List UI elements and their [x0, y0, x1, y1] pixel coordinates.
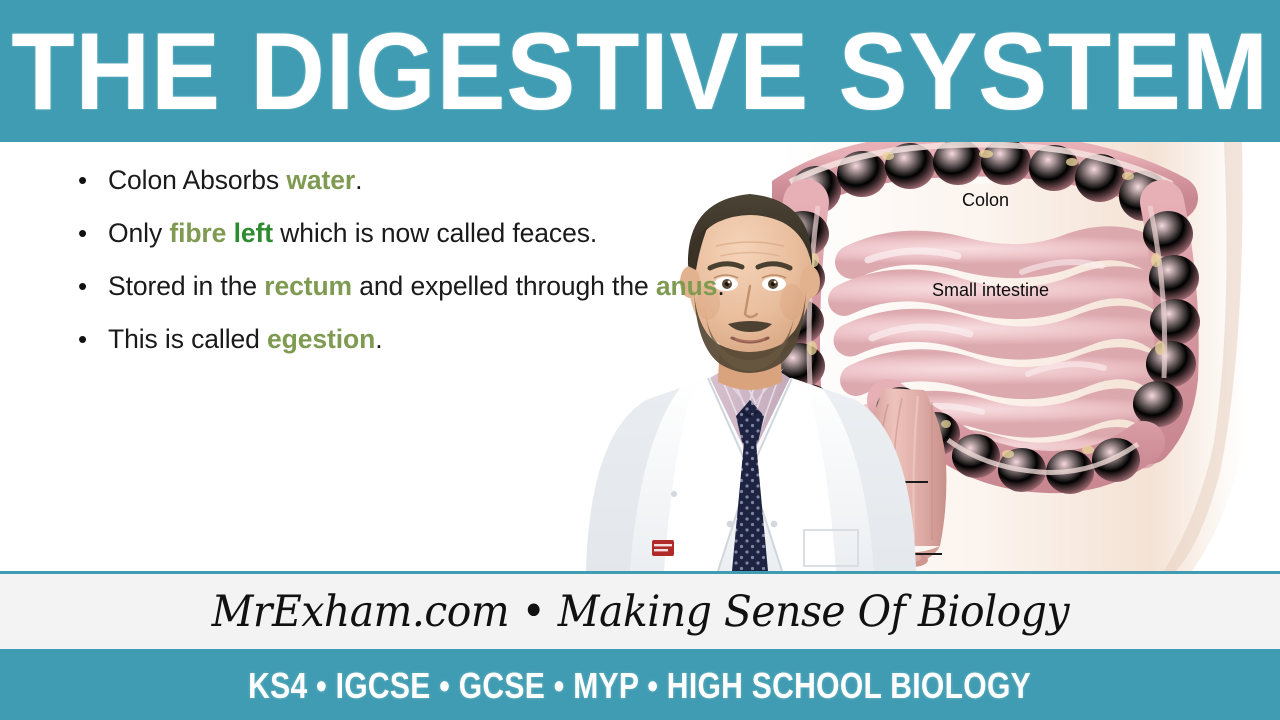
bullet-highlight-fibre: fibre: [169, 218, 226, 248]
bullet-segment: Stored in the: [108, 271, 264, 301]
qualification-banner-text: KS4 • IGCSE • GCSE • MYP • HIGH SCHOOL B…: [249, 665, 1032, 707]
bullet-segment: which is now called feaces.: [273, 218, 597, 248]
bullet-segment: [226, 218, 233, 248]
bullet-marker-icon: •: [62, 266, 108, 306]
bullet-segment: Colon Absorbs: [108, 165, 286, 195]
title-bar: THE DIGESTIVE SYSTEM: [0, 0, 1280, 142]
bullet-segment: and expelled through the: [352, 271, 656, 301]
bullet-segment: .: [355, 165, 362, 195]
bullet-item-2: • Only fibre left which is now called fe…: [62, 213, 762, 254]
bullet-highlight-anus: anus: [656, 271, 717, 301]
bullet-highlight-rectum: rectum: [264, 271, 352, 301]
slide-body: Colon Small intestine Rectum Anus: [0, 142, 1280, 571]
bullet-item-1: • Colon Absorbs water.: [62, 160, 762, 201]
diagram-label-small-intestine: Small intestine: [932, 280, 1049, 301]
bullet-item-4: • This is called egestion.: [62, 319, 762, 360]
bullet-segment: Only: [108, 218, 169, 248]
bullet-highlight-egestion: egestion: [267, 324, 375, 354]
tagline-bar: MrExham.com • Making Sense Of Biology: [0, 571, 1280, 652]
bullet-text-1: Colon Absorbs water.: [108, 160, 762, 201]
diagram-label-colon: Colon: [962, 190, 1009, 211]
bullet-text-2: Only fibre left which is now called feac…: [108, 213, 762, 254]
bullet-segment: .: [375, 324, 382, 354]
bullet-marker-icon: •: [62, 213, 108, 253]
bullet-item-3: • Stored in the rectum and expelled thro…: [62, 266, 762, 307]
bullet-segment: This is called: [108, 324, 267, 354]
bullet-list: • Colon Absorbs water. • Only fibre left…: [62, 160, 762, 372]
page-title: THE DIGESTIVE SYSTEM: [0, 0, 1280, 142]
bullet-highlight-left: left: [234, 218, 273, 248]
bullet-text-3: Stored in the rectum and expelled throug…: [108, 266, 762, 307]
brand-tagline: MrExham.com • Making Sense Of Biology: [211, 587, 1068, 637]
bullet-marker-icon: •: [62, 319, 108, 359]
bullet-highlight-water: water: [286, 165, 355, 195]
bullet-marker-icon: •: [62, 160, 108, 200]
bullet-segment: .: [717, 271, 724, 301]
slide-root: THE DIGESTIVE SYSTEM: [0, 0, 1280, 720]
bullet-text-4: This is called egestion.: [108, 319, 762, 360]
qualification-banner: KS4 • IGCSE • GCSE • MYP • HIGH SCHOOL B…: [0, 652, 1280, 720]
